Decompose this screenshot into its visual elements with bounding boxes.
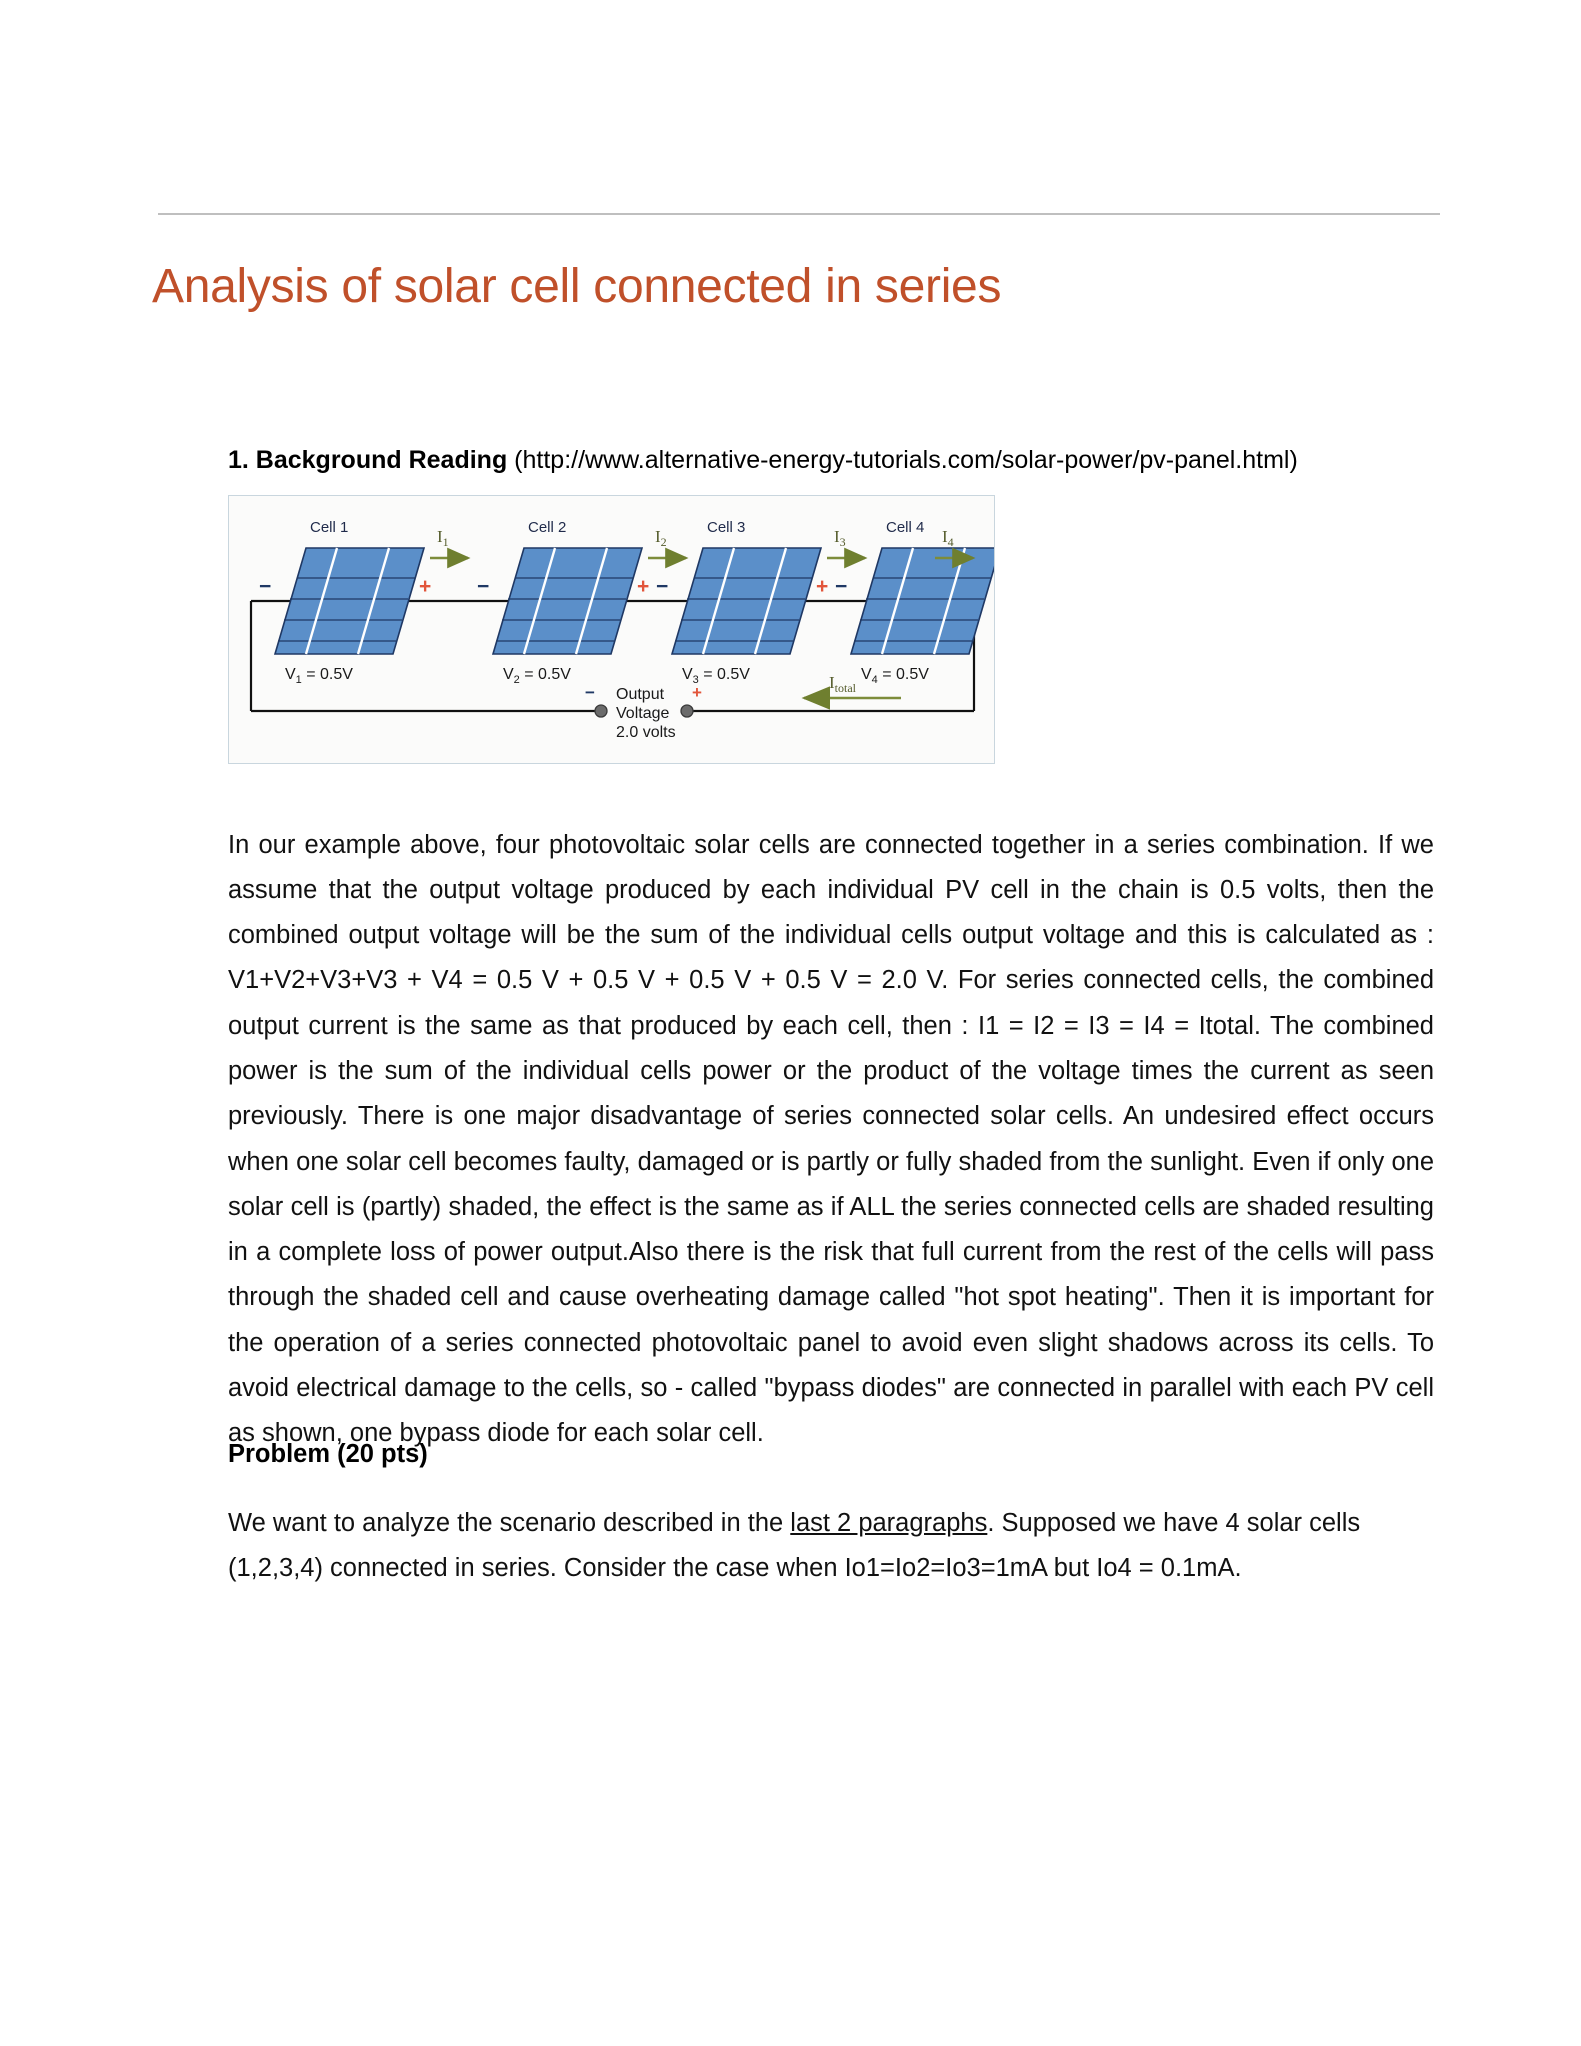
cell-1-name: Cell 1 [310,519,348,536]
problem-text-before: We want to analyze the scenario describe… [228,1509,790,1537]
problem-paragraph: We want to analyze the scenario describe… [228,1501,1434,1592]
output-line-2: Voltage [616,705,669,722]
svg-text:+: + [692,683,702,702]
svg-text:−: − [259,575,271,598]
svg-text:−: − [835,575,847,598]
svg-text:+: + [637,575,649,598]
background-reading-heading: 1. Background Reading (http://www.altern… [228,445,1468,476]
svg-text:+: + [816,575,828,598]
page-title: Analysis of solar cell connected in seri… [152,260,1452,314]
svg-text:−: − [585,683,595,702]
cell-2-name: Cell 2 [528,519,566,536]
cell-3-name: Cell 3 [707,519,745,536]
output-line-3: 2.0 volts [616,724,676,741]
intro-paragraph: In our example above, four photovoltaic … [228,823,1434,1457]
svg-text:−: − [656,575,668,598]
svg-text:+: + [419,575,431,598]
document-page: Analysis of solar cell connected in seri… [0,0,1581,2046]
svg-text:−: − [477,575,489,598]
cell-4-name: Cell 4 [886,519,924,536]
problem-heading: Problem (20 pts) [228,1432,428,1477]
background-reading-url[interactable]: (http://www.alternative-energy-tutorials… [507,446,1298,474]
solar-series-diagram: Cell 1 − + V1 = 0.5V I1 [229,496,994,763]
solar-cells-series-figure: Cell 1 − + V1 = 0.5V I1 [228,495,995,764]
problem-link-paragraphs[interactable]: last 2 paragraphs [790,1509,987,1537]
background-reading-label: 1. Background Reading [228,446,507,474]
output-line-1: Output [616,686,665,703]
title-divider [158,213,1440,215]
